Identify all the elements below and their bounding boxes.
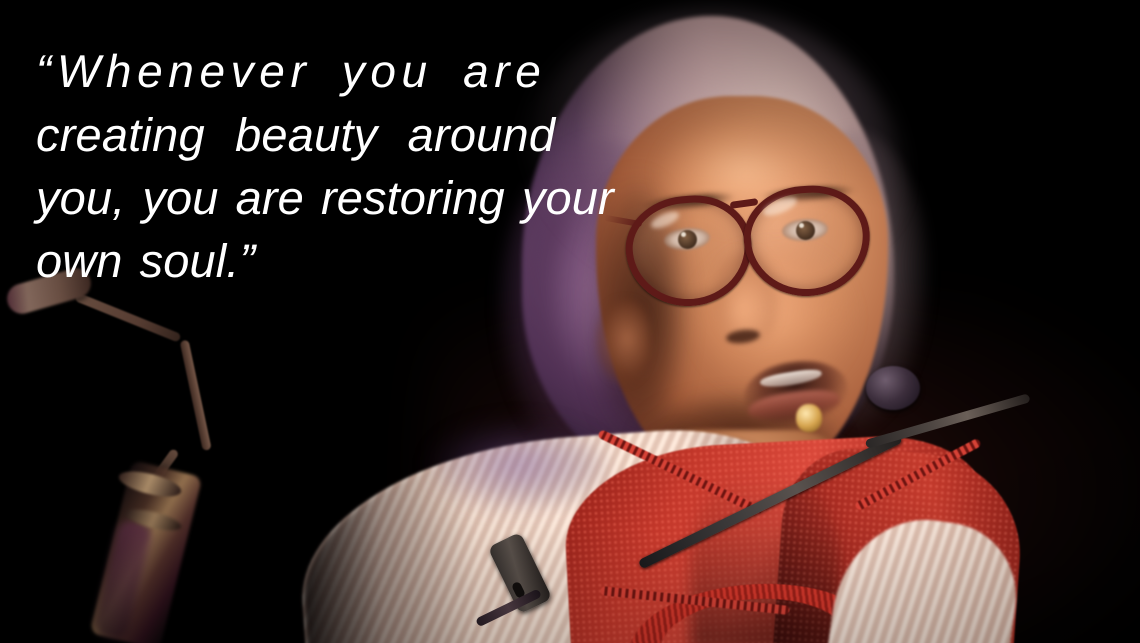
sweater-purple-lightspill <box>430 420 610 510</box>
quote-line-2: creating beauty around <box>36 103 676 166</box>
ear <box>596 300 650 384</box>
microphone-gooseneck-mid-left <box>180 340 212 451</box>
quote-line-1: “Whenever you are <box>36 40 676 103</box>
microphone-gooseneck-upper-left <box>74 292 181 342</box>
quote-line-4: own soul.” <box>36 229 676 292</box>
earring <box>796 404 822 432</box>
microphone-head-right <box>866 366 920 410</box>
quote-line-3: you, you are restoring your <box>36 166 676 229</box>
quote-overlay: “Whenever you are creating beauty around… <box>36 40 676 292</box>
quote-image-canvas: “Whenever you are creating beauty around… <box>0 0 1140 643</box>
